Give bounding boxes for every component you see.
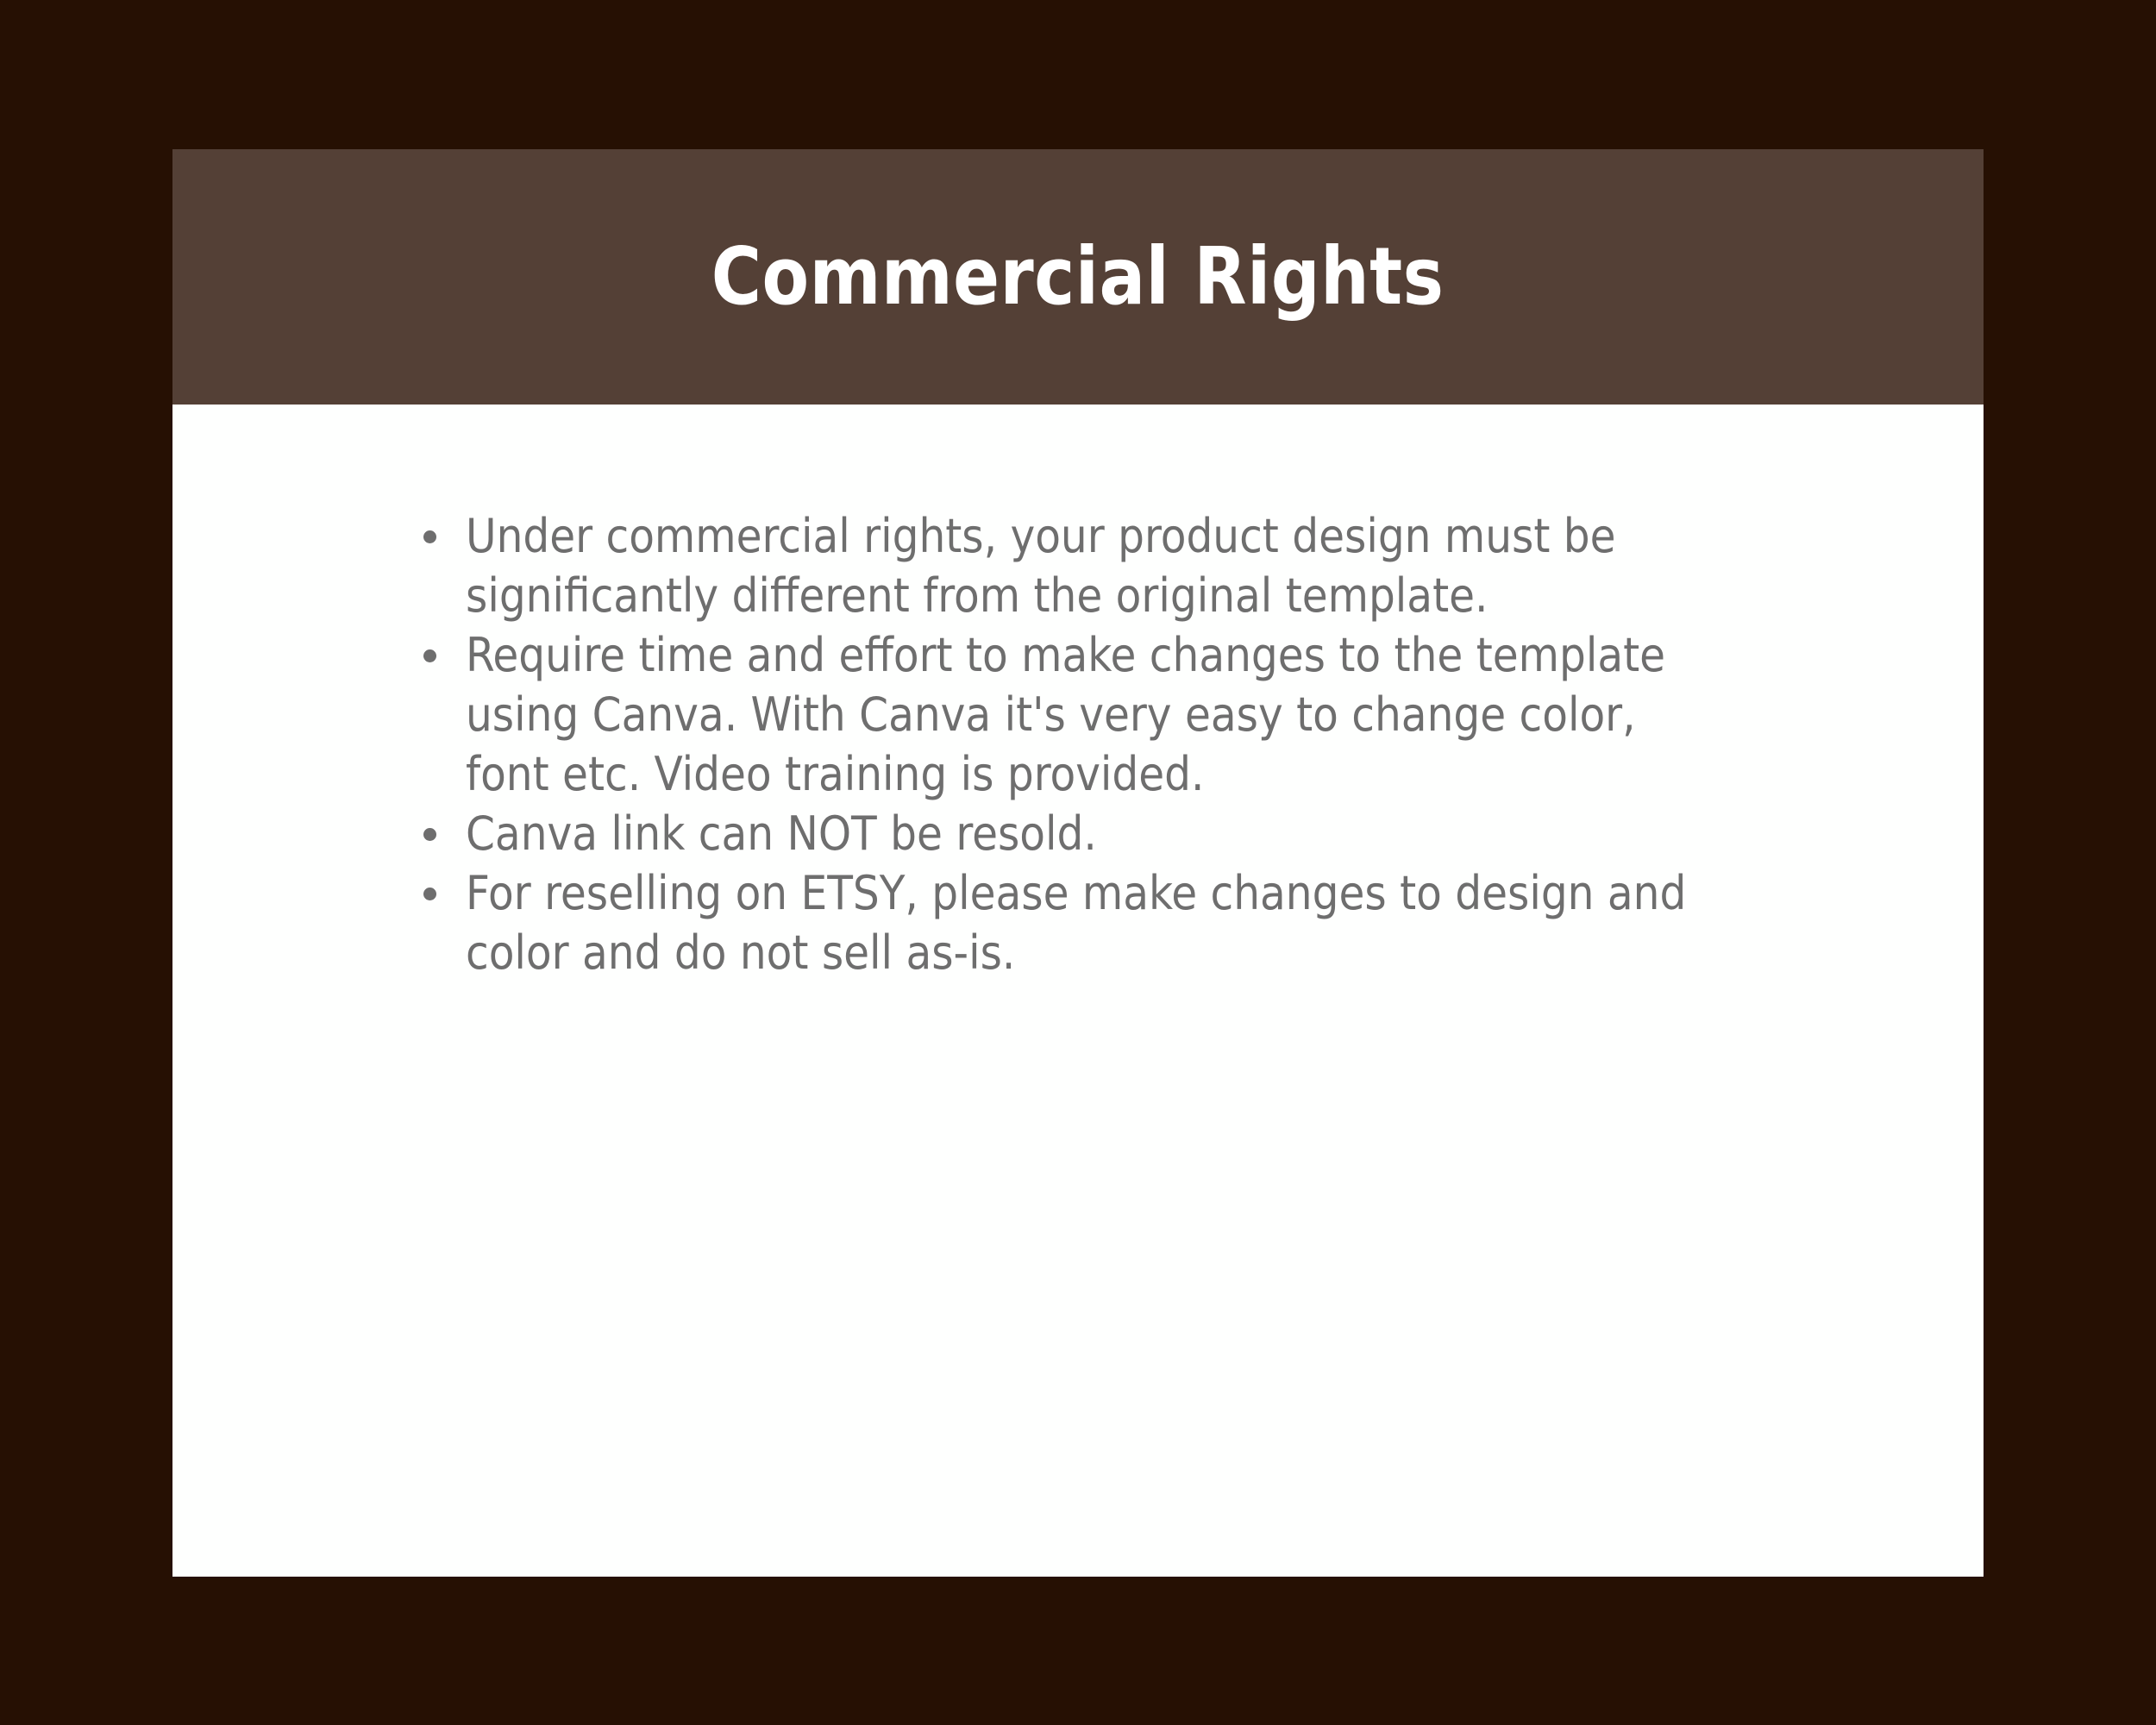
bullet-point-icon bbox=[423, 649, 436, 662]
list-item-text: Canva link can NOT be resold. bbox=[466, 806, 1097, 861]
card-header: Commercial Rights bbox=[172, 149, 1984, 405]
commercial-rights-card: Commercial Rights Under commercial right… bbox=[172, 149, 1984, 1577]
bullet-point-icon bbox=[423, 530, 436, 543]
list-item-text: For reselling on ETSY, please make chang… bbox=[466, 866, 1686, 980]
list-item: Canva link can NOT be resold. bbox=[418, 804, 1725, 863]
commercial-rights-bullet-list: Under commercial rights, your product de… bbox=[418, 506, 1725, 982]
list-item-text: Require time and effort to make changes … bbox=[466, 628, 1665, 801]
page-title: Commercial Rights bbox=[711, 237, 1445, 317]
bullet-point-icon bbox=[423, 828, 436, 841]
list-item: Require time and effort to make changes … bbox=[418, 625, 1725, 804]
card-body: Under commercial rights, your product de… bbox=[172, 405, 1984, 982]
list-item: For reselling on ETSY, please make chang… bbox=[418, 863, 1725, 982]
bullet-point-icon bbox=[423, 888, 436, 900]
list-item: Under commercial rights, your product de… bbox=[418, 506, 1725, 625]
slide-canvas: Commercial Rights Under commercial right… bbox=[0, 0, 2156, 1725]
list-item-text: Under commercial rights, your product de… bbox=[466, 509, 1616, 623]
